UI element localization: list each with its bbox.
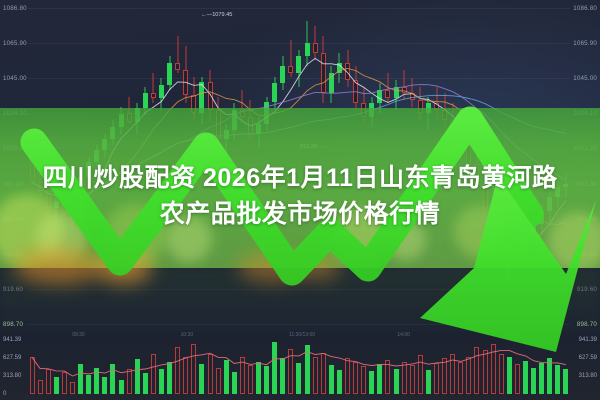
volume-bar xyxy=(353,362,358,394)
candle-body xyxy=(385,90,390,98)
volume-bar xyxy=(385,360,390,394)
volume-bar xyxy=(232,372,237,394)
bokeh-circle xyxy=(548,212,600,268)
volume-bar xyxy=(216,368,221,394)
candle-wick xyxy=(404,70,405,100)
volume-bar xyxy=(70,382,75,394)
candle-body xyxy=(159,85,164,98)
volume-bar xyxy=(539,363,544,394)
price-axis-tick-label: 1065.90 xyxy=(3,40,27,47)
time-axis-tick-label: 10:30 xyxy=(181,332,194,338)
volume-bar xyxy=(296,363,301,394)
volume-bar xyxy=(474,347,479,394)
candle-body xyxy=(402,87,407,94)
volume-bar xyxy=(62,372,67,394)
volume-bar xyxy=(272,342,277,394)
candle-body xyxy=(175,63,180,70)
candle-body xyxy=(280,66,285,83)
candle-body xyxy=(296,56,301,73)
candle-body xyxy=(208,82,213,111)
gridline xyxy=(28,43,570,44)
volume-bar xyxy=(329,365,334,394)
volume-axis-tick-label: 941.39 xyxy=(579,337,597,343)
warm-glow xyxy=(238,252,308,282)
volume-bar xyxy=(30,357,35,394)
candle-body xyxy=(167,63,172,85)
volume-bar xyxy=(410,365,415,394)
candle-body xyxy=(329,73,334,93)
warm-glow xyxy=(96,250,152,284)
candle-body xyxy=(394,87,399,99)
warm-glow xyxy=(300,252,340,280)
price-axis-tick-label: 1065.90 xyxy=(573,40,597,47)
candlestick xyxy=(151,73,156,103)
bokeh-circle xyxy=(332,208,390,266)
volume-bar xyxy=(515,364,520,394)
volume-axis-tick-label: 627.59 xyxy=(3,355,21,361)
volume-bar xyxy=(119,380,124,394)
volume-bar xyxy=(110,364,115,394)
time-axis-tick-label: 09:30 xyxy=(72,332,85,338)
volume-bar xyxy=(458,362,463,394)
candlestick xyxy=(402,70,407,100)
candlestick xyxy=(280,56,285,90)
candle-body xyxy=(313,43,318,53)
volume-bar xyxy=(264,366,269,394)
volume-axis-tick-label: 627.59 xyxy=(579,355,597,361)
candlestick xyxy=(353,66,358,110)
volume-bar xyxy=(256,362,261,394)
volume-bar xyxy=(361,366,366,394)
gridline xyxy=(28,8,570,9)
volume-panel: 941.39627.59313.800 941.39627.59313.80 0… xyxy=(0,332,600,400)
volume-bar xyxy=(450,354,455,394)
candle-body xyxy=(321,53,326,93)
volume-bar xyxy=(345,358,350,394)
stock-chart-promo-image: 1086.801065.901045.001024.101003.20982.3… xyxy=(0,0,600,400)
candlestick xyxy=(385,73,390,103)
warm-glow xyxy=(14,248,104,284)
candle-body xyxy=(143,93,148,108)
candle-body xyxy=(345,63,350,80)
candle-wick xyxy=(387,73,388,103)
candlestick xyxy=(329,66,334,103)
volume-axis-tick-label: 313.80 xyxy=(3,373,21,379)
candlestick xyxy=(345,50,350,87)
candlestick xyxy=(337,53,342,83)
volume-bar xyxy=(135,359,140,394)
time-axis-tick-label: 14:00 xyxy=(397,332,410,338)
volume-bar xyxy=(183,357,188,394)
price-annotation: ←—1079.45 xyxy=(201,12,232,18)
volume-bar xyxy=(523,361,528,394)
volume-bar xyxy=(369,371,374,394)
bokeh-circle xyxy=(166,216,212,262)
price-axis-tick-label: 1045.00 xyxy=(3,75,27,82)
candle-body xyxy=(305,43,310,56)
volume-bar xyxy=(555,365,560,394)
volume-bar xyxy=(38,380,43,394)
volume-bar xyxy=(442,358,447,394)
candlestick xyxy=(313,26,318,60)
volume-bar xyxy=(321,353,326,394)
volume-bar xyxy=(224,360,229,394)
volume-bar xyxy=(54,377,59,394)
volume-bar xyxy=(563,369,568,394)
candle-body xyxy=(377,90,382,103)
volume-bar xyxy=(305,345,310,394)
volume-bar xyxy=(102,377,107,394)
volume-axis-tick-label: 0 xyxy=(3,391,6,397)
volume-bar xyxy=(337,370,342,394)
candlestick xyxy=(272,77,277,111)
volume-bar xyxy=(434,363,439,394)
volume-bar xyxy=(377,364,382,394)
volume-bar xyxy=(531,368,536,394)
price-axis-tick-label: 1086.80 xyxy=(3,5,27,12)
candlestick xyxy=(159,78,164,110)
volume-bar xyxy=(46,369,51,394)
volume-bar xyxy=(94,368,99,394)
candle-body xyxy=(183,70,188,95)
volume-bar xyxy=(313,357,318,394)
candle-body xyxy=(151,93,156,98)
volume-bar xyxy=(507,357,512,394)
volume-bar xyxy=(483,350,488,394)
candlestick xyxy=(321,36,326,103)
candlestick xyxy=(183,46,188,103)
candlestick xyxy=(410,78,415,107)
candle-wick xyxy=(153,73,154,103)
volume-bar xyxy=(402,362,407,394)
volume-bar xyxy=(143,373,148,394)
volume-bar xyxy=(280,358,285,394)
volume-axis-tick-label: 941.39 xyxy=(3,337,21,343)
volume-bar xyxy=(175,347,180,394)
volume-bar xyxy=(78,364,83,394)
volume-bar xyxy=(248,365,253,394)
candlestick xyxy=(394,80,399,110)
candle-body xyxy=(337,63,342,73)
candle-body xyxy=(410,93,415,100)
volume-bar xyxy=(86,375,91,394)
volume-bar xyxy=(127,369,132,394)
candlestick xyxy=(175,36,180,73)
green-banner-band xyxy=(0,108,600,268)
volume-axis-tick-label: 313.80 xyxy=(579,373,597,379)
candlestick xyxy=(305,21,310,66)
volume-bar xyxy=(547,358,552,394)
volume-bar xyxy=(199,364,204,394)
volume-bar xyxy=(499,354,504,394)
time-axis-tick-label: 11:30/13:00 xyxy=(289,332,315,338)
time-axis-tick-label: 15:00 xyxy=(506,332,519,338)
volume-bar xyxy=(466,357,471,394)
price-axis-tick-label: 1045.00 xyxy=(573,75,597,82)
volume-bar xyxy=(191,344,196,394)
volume-bar xyxy=(288,349,293,394)
volume-bar xyxy=(426,370,431,394)
candlestick xyxy=(288,40,293,77)
volume-bar xyxy=(394,369,399,394)
volume-bar xyxy=(418,355,423,394)
volume-bar xyxy=(208,354,213,394)
volume-bar xyxy=(151,354,156,394)
price-axis-tick-label: 1086.80 xyxy=(573,5,597,12)
volume-bar xyxy=(491,344,496,394)
volume-bar xyxy=(167,362,172,394)
bokeh-circle xyxy=(386,220,426,260)
candle-body xyxy=(288,66,293,73)
volume-bar xyxy=(240,357,245,394)
candlestick xyxy=(296,50,301,87)
bokeh-circle xyxy=(454,206,506,258)
candle-body xyxy=(272,83,277,101)
candle-body xyxy=(353,80,358,104)
volume-bar xyxy=(159,369,164,394)
candlestick xyxy=(167,56,172,90)
